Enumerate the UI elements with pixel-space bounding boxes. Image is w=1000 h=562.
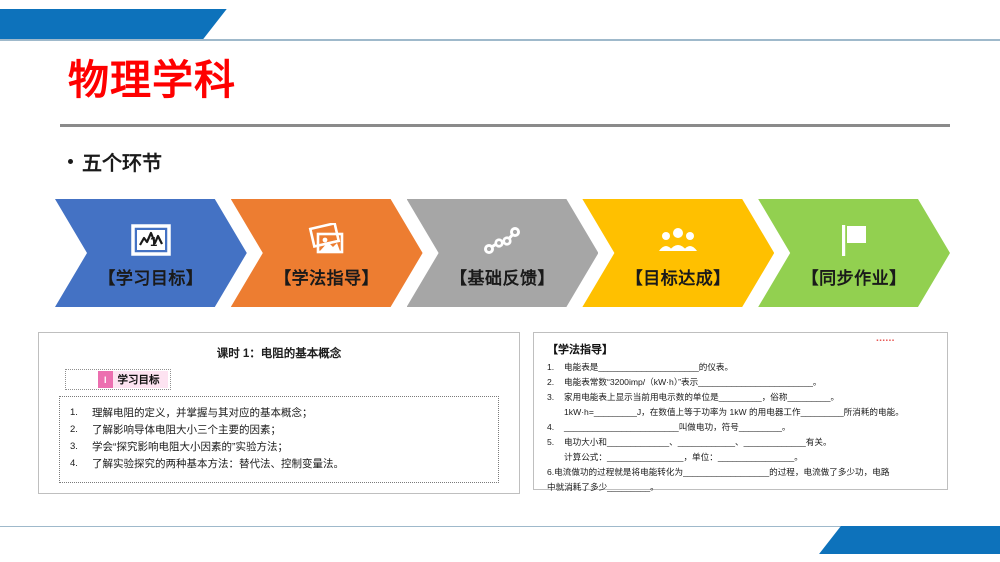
item-number: 1. [547,360,564,375]
bottom-banner-shape [819,526,1000,554]
chevron-label-2: 【学法指导】 [274,264,379,289]
chevron-step-5[interactable]: 【同步作业】 [758,199,950,307]
chevron-step-1[interactable]: 1 【学习目标】 [55,199,247,307]
bullet-icon [68,159,73,164]
badge-marker: I [98,371,113,388]
item-5-continuation: 计算公式：________________，单位：_______________… [564,450,938,465]
list-item: 1. 电能表是_____________________的仪表。 [547,360,938,375]
item-6-line-2: 中就消耗了多少_________。 [547,480,938,495]
chevron-step-2[interactable]: 【学法指导】 [231,199,423,307]
nodes-link-icon [480,220,524,260]
item-text: 电功大小和_____________、____________、________… [564,435,832,450]
svg-text:1: 1 [150,234,157,249]
item-3-continuation: 1kW·h=_________J，在数值上等于功率为 1kW 的用电器工作___… [564,405,938,420]
process-chevron-row: 1 【学习目标】 【学法指导】 [55,199,950,307]
slide-canvas: 物理学科 五个环节 1 【学习目标】 [0,0,1000,562]
goal-number: 2. [70,422,92,439]
list-item: 2. 了解影响导体电阻大小三个主要的因素； [70,422,488,439]
goal-list: 1. 理解电阻的定义，并掌握与其对应的基本概念； 2. 了解影响导体电阻大小三个… [59,396,499,483]
goal-text: 了解实验探究的两种基本方法：替代法、控制变量法。 [92,456,344,473]
chevron-label-1: 【学习目标】 [98,264,203,289]
item-number: 5. [547,435,564,450]
chevron-label-4: 【目标达成】 [626,264,731,289]
item-text: 电能表是_____________________的仪表。 [564,360,733,375]
item-number: 3. [547,390,564,405]
item-number: 2. [547,375,564,390]
photos-icon [306,220,348,260]
item-text: ________________________叫做电功，符号_________… [564,420,790,435]
item-number: 4. [547,420,564,435]
list-item: 3. 家用电能表上显示当前用电示数的单位是_________，俗称_______… [547,390,938,405]
goal-number: 4. [70,456,92,473]
top-banner-rule [0,39,1000,41]
flag-icon [834,220,874,260]
chevron-step-4[interactable]: 【目标达成】 [582,199,774,307]
list-item: 2. 电能表常数“3200imp/（kW·h）”表示______________… [547,375,938,390]
title-divider [60,124,950,127]
top-banner-shape [0,9,227,39]
list-item: 3. 学会“探究影响电阻大小因素的”实验方法； [70,439,488,456]
chevron-label-5: 【同步作业】 [802,264,907,289]
goal-number: 1. [70,405,92,422]
chevron-label-3: 【基础反馈】 [450,264,555,289]
goal-number: 3. [70,439,92,456]
goal-text: 了解影响导体电阻大小三个主要的因素； [92,422,281,439]
item-text: 电能表常数“3200imp/（kW·h）”表示_________________… [564,375,821,390]
chart-frame-icon: 1 [131,220,171,260]
subtitle-row: 五个环节 [68,147,162,176]
list-item: 5. 电功大小和_____________、____________、_____… [547,435,938,450]
lesson-title: 课时 1：电阻的基本概念 [51,345,507,361]
people-group-icon [656,220,700,260]
item-6-line-1: 6.电流做功的过程就是将电能转化为__________________的过程，电… [547,465,938,480]
page-title: 物理学科 [68,60,236,101]
red-dots-marker: ▪▪▪▪▪▪ [876,338,895,344]
list-item: 4. 了解实验探究的两种基本方法：替代法、控制变量法。 [70,456,488,473]
goal-text: 学会“探究影响电阻大小因素的”实验方法； [92,439,288,456]
goal-text: 理解电阻的定义，并掌握与其对应的基本概念； [92,405,313,422]
subtitle-text: 五个环节 [82,147,162,176]
left-document-panel: 课时 1：电阻的基本概念 I 学习目标 1. 理解电阻的定义，并掌握与其对应的基… [38,332,520,494]
learning-goal-badge: I 学习目标 [65,369,171,390]
item-text: 家用电能表上显示当前用电示数的单位是_________，俗称_________。 [564,390,839,405]
right-document-panel: ▪▪▪▪▪▪ 【学法指导】 1. 电能表是___________________… [533,332,948,490]
list-item: 1. 理解电阻的定义，并掌握与其对应的基本概念； [70,405,488,422]
badge-label: 学习目标 [113,371,168,388]
chevron-step-3[interactable]: 【基础反馈】 [407,199,599,307]
list-item: 4. ________________________叫做电功，符号______… [547,420,938,435]
